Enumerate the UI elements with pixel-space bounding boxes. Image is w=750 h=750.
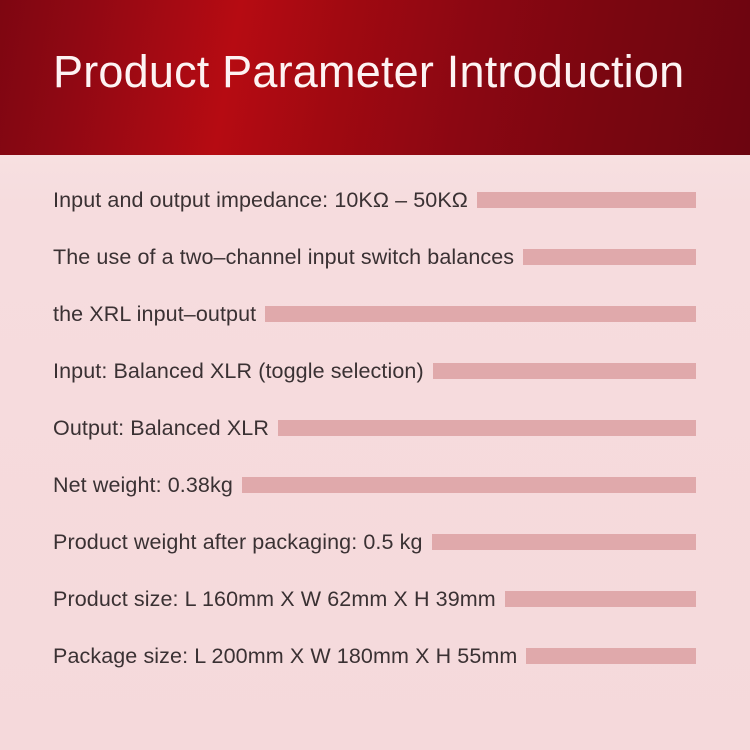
spec-label: Product size: L 160mm X W 62mm X H 39mm [53, 584, 496, 614]
spec-list: Input and output impedance: 10KΩ – 50KΩ … [0, 155, 750, 750]
spec-label: The use of a two–channel input switch ba… [53, 242, 514, 272]
spec-label: the XRL input–output [53, 299, 256, 329]
spec-filler-bar [505, 591, 696, 607]
spec-label: Input and output impedance: 10KΩ – 50KΩ [53, 185, 468, 215]
spec-filler-bar [278, 420, 696, 436]
spec-row: Package size: L 200mm X W 180mm X H 55mm [53, 641, 696, 671]
spec-row: the XRL input–output [53, 299, 696, 329]
spec-filler-bar [432, 534, 696, 550]
spec-row: The use of a two–channel input switch ba… [53, 242, 696, 272]
spec-row: Product weight after packaging: 0.5 kg [53, 527, 696, 557]
spec-label: Input: Balanced XLR (toggle selection) [53, 356, 424, 386]
spec-label: Output: Balanced XLR [53, 413, 269, 443]
spec-label: Net weight: 0.38kg [53, 470, 233, 500]
spec-row: Product size: L 160mm X W 62mm X H 39mm [53, 584, 696, 614]
spec-filler-bar [526, 648, 696, 664]
spec-row: Output: Balanced XLR [53, 413, 696, 443]
spec-row: Input and output impedance: 10KΩ – 50KΩ [53, 185, 696, 215]
spec-filler-bar [477, 192, 696, 208]
spec-row: Net weight: 0.38kg [53, 470, 696, 500]
spec-filler-bar [265, 306, 696, 322]
spec-filler-bar [433, 363, 696, 379]
spec-label: Product weight after packaging: 0.5 kg [53, 527, 423, 557]
page-title: Product Parameter Introduction [53, 48, 684, 95]
spec-label: Package size: L 200mm X W 180mm X H 55mm [53, 641, 517, 671]
spec-filler-bar [242, 477, 696, 493]
spec-row: Input: Balanced XLR (toggle selection) [53, 356, 696, 386]
spec-filler-bar [523, 249, 696, 265]
product-parameter-page: Product Parameter Introduction Input and… [0, 0, 750, 750]
header-banner: Product Parameter Introduction [0, 0, 750, 155]
